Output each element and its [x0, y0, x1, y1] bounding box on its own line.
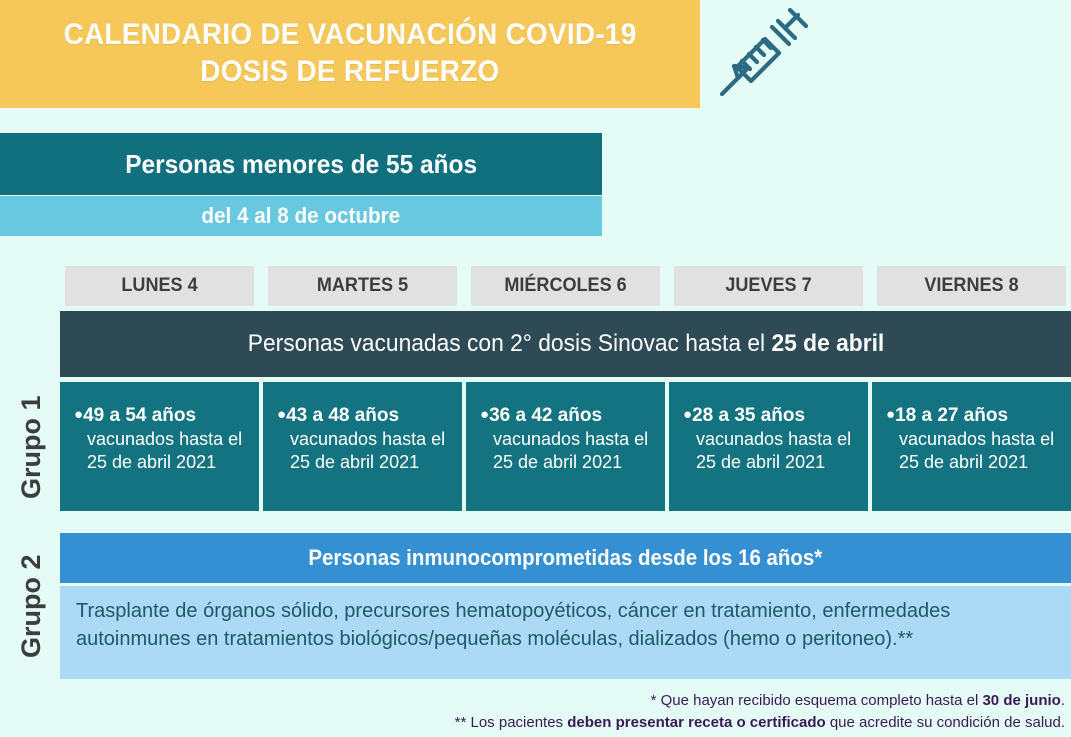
age-cell: ●18 a 27 años vacunados hasta el 25 de a…: [872, 382, 1071, 511]
calendar-grid: LUNES 4 MARTES 5 MIÉRCOLES 6 JUEVES 7 VI…: [60, 266, 1071, 679]
footnote-two-prefix: ** Los pacientes: [455, 714, 568, 731]
audience-label: Personas menores de 55 años: [125, 149, 477, 180]
footnote-one-suffix: .: [1061, 692, 1065, 709]
group-2-banner-text: Personas inmunocomprometidas desde los 1…: [309, 545, 823, 571]
age-detail-label: vacunados hasta el 25 de abril 2021: [899, 429, 1054, 472]
bullet-icon: ●: [480, 406, 489, 423]
age-cell: ●36 a 42 años vacunados hasta el 25 de a…: [466, 382, 665, 511]
age-cell-text: ●18 a 27 años vacunados hasta el 25 de a…: [886, 404, 1057, 474]
age-range-label: 36 a 42 años: [489, 405, 602, 426]
age-cell: ●49 a 54 años vacunados hasta el 25 de a…: [60, 382, 259, 511]
day-header-cell: VIERNES 8: [877, 266, 1066, 306]
day-header-row: LUNES 4 MARTES 5 MIÉRCOLES 6 JUEVES 7 VI…: [60, 266, 1071, 306]
footnote-two: ** Los pacientes deben presentar receta …: [455, 712, 1065, 733]
age-cell: ●28 a 35 años vacunados hasta el 25 de a…: [669, 382, 868, 511]
age-detail-label: vacunados hasta el 25 de abril 2021: [87, 429, 242, 472]
date-range-label: del 4 al 8 de octubre: [202, 203, 401, 229]
day-header-cell: JUEVES 7: [674, 266, 863, 306]
group-1-banner-prefix: Personas vacunadas con 2° dosis Sinovac …: [247, 330, 771, 357]
syringe-icon: [712, 4, 812, 104]
group-2-banner: Personas inmunocomprometidas desde los 1…: [60, 533, 1071, 583]
age-cell-text: ●28 a 35 años vacunados hasta el 25 de a…: [683, 404, 854, 474]
footnote-one: * Que hayan recibido esquema completo ha…: [455, 690, 1065, 711]
bullet-icon: ●: [74, 406, 83, 423]
footnote-one-prefix: * Que hayan recibido esquema completo ha…: [651, 692, 983, 709]
footnote-one-bold: 30 de junio: [982, 692, 1060, 709]
day-header-cell: LUNES 4: [65, 266, 254, 306]
bullet-icon: ●: [683, 406, 692, 423]
age-detail-label: vacunados hasta el 25 de abril 2021: [493, 429, 648, 472]
day-header-cell: MIÉRCOLES 6: [471, 266, 660, 306]
page-title-line-2: DOSIS DE REFUERZO: [200, 54, 499, 91]
group-1-banner-text: Personas vacunadas con 2° dosis Sinovac …: [247, 330, 884, 358]
age-range-label: 49 a 54 años: [83, 405, 196, 426]
page-title-line-1: CALENDARIO DE VACUNACIÓN COVID-19: [64, 17, 637, 54]
age-detail-label: vacunados hasta el 25 de abril 2021: [696, 429, 851, 472]
age-cell-text: ●49 a 54 años vacunados hasta el 25 de a…: [74, 404, 245, 474]
footnotes: * Que hayan recibido esquema completo ha…: [455, 690, 1065, 733]
group-2-side-label: Grupo 2: [16, 530, 47, 682]
audience-banner: Personas menores de 55 años: [0, 133, 602, 195]
title-banner: CALENDARIO DE VACUNACIÓN COVID-19 DOSIS …: [0, 0, 700, 108]
age-cell-text: ●36 a 42 años vacunados hasta el 25 de a…: [480, 404, 651, 474]
day-header-cell: MARTES 5: [268, 266, 457, 306]
age-range-label: 28 a 35 años: [692, 405, 805, 426]
group-1-age-row: ●49 a 54 años vacunados hasta el 25 de a…: [60, 382, 1071, 511]
group-1-banner: Personas vacunadas con 2° dosis Sinovac …: [60, 311, 1071, 377]
bullet-icon: ●: [277, 406, 286, 423]
date-range-banner: del 4 al 8 de octubre: [0, 196, 602, 236]
group-2-description: Trasplante de órganos sólido, precursore…: [60, 586, 1071, 679]
age-cell: ●43 a 48 años vacunados hasta el 25 de a…: [263, 382, 462, 511]
age-detail-label: vacunados hasta el 25 de abril 2021: [290, 429, 445, 472]
group-1-banner-date: 25 de abril: [771, 330, 884, 357]
bullet-icon: ●: [886, 406, 895, 423]
group-1-side-label: Grupo 1: [16, 382, 47, 512]
age-range-label: 18 a 27 años: [895, 405, 1008, 426]
age-range-label: 43 a 48 años: [286, 405, 399, 426]
footnote-two-suffix: que acredite su condición de salud.: [826, 714, 1065, 731]
age-cell-text: ●43 a 48 años vacunados hasta el 25 de a…: [277, 404, 448, 474]
footnote-two-bold: deben presentar receta o certificado: [567, 714, 825, 731]
